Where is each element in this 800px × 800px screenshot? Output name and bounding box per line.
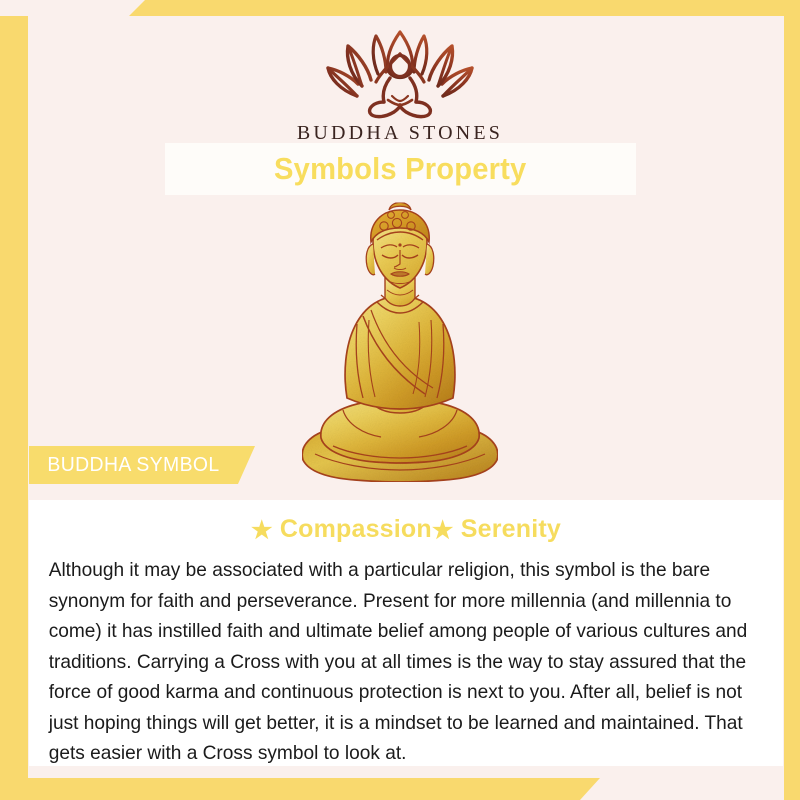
title-band: Symbols Property bbox=[165, 143, 636, 195]
ribbon-label: BUDDHA SYMBOL bbox=[32, 454, 220, 477]
page-title: Symbols Property bbox=[274, 151, 526, 187]
frame-top-bar bbox=[0, 0, 800, 16]
subtitle-word-compassion: Compassion bbox=[280, 515, 432, 543]
lotus-meditation-icon bbox=[0, 24, 800, 120]
star-icon-one: ★ bbox=[251, 517, 273, 544]
brand-name: BUDDHA STONES bbox=[0, 122, 800, 145]
seated-golden-buddha-statue bbox=[285, 198, 515, 488]
brand-logo-block: BUDDHA STONES bbox=[0, 24, 800, 145]
frame-bottom-bar bbox=[0, 778, 620, 800]
star-icon-two: ★ bbox=[432, 517, 454, 544]
content-panel: ★ Compassion★ Serenity Although it may b… bbox=[29, 500, 783, 766]
poster-root: BUDDHA STONES Symbols Property bbox=[0, 0, 800, 800]
buddha-symbol-ribbon: BUDDHA SYMBOL bbox=[29, 446, 255, 484]
content-paragraph: Although it may be associated with a par… bbox=[29, 545, 772, 769]
content-subtitle: ★ Compassion★ Serenity bbox=[29, 500, 783, 545]
subtitle-word-serenity: Serenity bbox=[461, 515, 561, 543]
